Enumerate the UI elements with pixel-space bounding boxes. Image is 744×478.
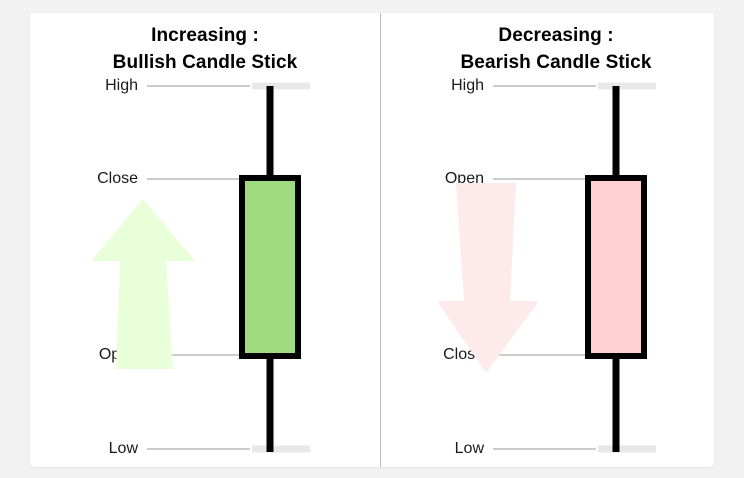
candle-body-bullish (239, 175, 301, 359)
panel-bearish-title-line2: Bearish Candle Stick (381, 49, 731, 76)
leader-line-high-bearish (493, 86, 596, 87)
label-high-bearish: High (424, 77, 484, 95)
diagram-card: Increasing : Bullish Candle Stick High C… (30, 13, 714, 467)
cap-marker-low-bearish (598, 446, 656, 453)
lower-wick-bullish (267, 353, 274, 452)
leader-line-high-bullish (147, 86, 250, 87)
panel-bearish-title: Decreasing : Bearish Candle Stick (381, 22, 731, 76)
leader-line-low-bearish (493, 449, 596, 450)
panel-bullish: Increasing : Bullish Candle Stick High C… (30, 13, 380, 467)
panel-bearish: Decreasing : Bearish Candle Stick High O… (381, 13, 731, 467)
leader-line-low-bullish (147, 449, 250, 450)
label-close-bullish: Close (68, 170, 138, 188)
upper-wick-bearish (613, 86, 620, 182)
cap-marker-high-bearish (598, 83, 656, 90)
cap-marker-low-bullish (252, 446, 310, 453)
label-low-bearish: Low (424, 440, 484, 458)
diagram-stage: Increasing : Bullish Candle Stick High C… (0, 0, 744, 478)
candle-body-bearish (585, 175, 647, 359)
down-arrow-bearish (434, 183, 544, 373)
upper-wick-bullish (267, 86, 274, 182)
panel-bullish-title-line2: Bullish Candle Stick (30, 49, 380, 76)
panel-bearish-title-line1: Decreasing : (381, 22, 731, 49)
lower-wick-bearish (613, 353, 620, 452)
up-arrow-bullish (88, 199, 198, 369)
label-high-bullish: High (78, 77, 138, 95)
cap-marker-high-bullish (252, 83, 310, 90)
panel-bullish-title: Increasing : Bullish Candle Stick (30, 22, 380, 76)
panel-bullish-title-line1: Increasing : (30, 22, 380, 49)
label-low-bullish: Low (78, 440, 138, 458)
